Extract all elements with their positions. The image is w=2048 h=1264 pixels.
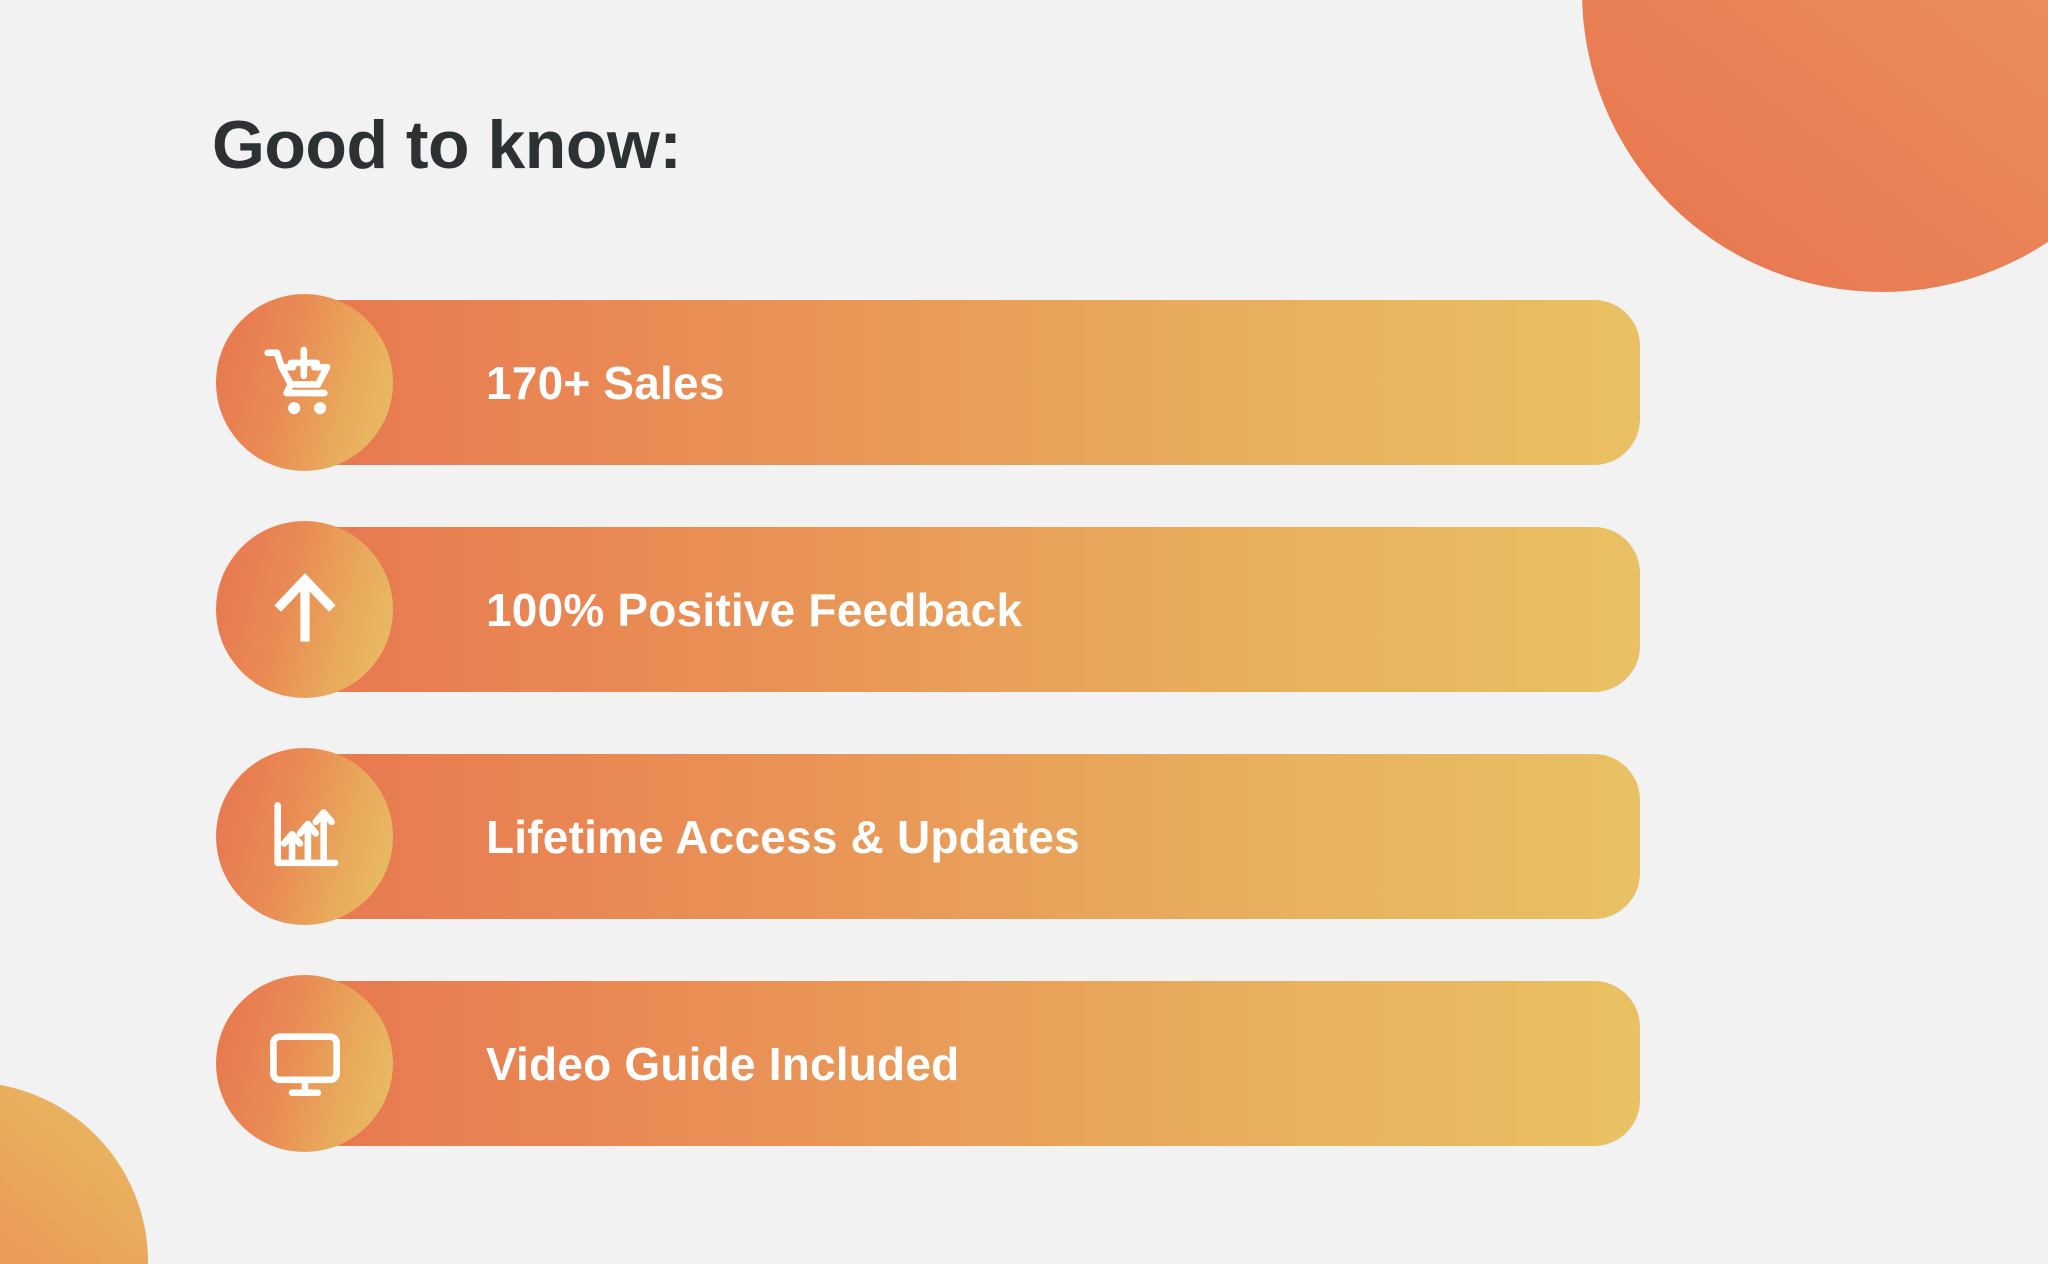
feature-label: Video Guide Included (486, 981, 959, 1146)
list-item: 170+ Sales (216, 300, 1640, 465)
feature-icon-badge (216, 294, 393, 471)
feature-label: Lifetime Access & Updates (486, 754, 1080, 919)
arrow-up-icon (259, 564, 351, 656)
monitor-icon (259, 1018, 351, 1110)
feature-list: 170+ Sales 100% Positive Feedback (216, 300, 1640, 1146)
top-right-circle-decoration (1582, 0, 2048, 292)
slide-canvas: Good to know: (0, 0, 2048, 1264)
feature-bar (237, 300, 1640, 465)
feature-icon-badge (216, 521, 393, 698)
feature-label: 170+ Sales (486, 300, 725, 465)
list-item: Video Guide Included (216, 981, 1640, 1146)
feature-icon-badge (216, 748, 393, 925)
list-item: 100% Positive Feedback (216, 527, 1640, 692)
bottom-left-circle-decoration (0, 1082, 148, 1264)
page-title: Good to know: (212, 108, 681, 183)
feature-icon-badge (216, 975, 393, 1152)
feature-label: 100% Positive Feedback (486, 527, 1022, 692)
list-item: Lifetime Access & Updates (216, 754, 1640, 919)
growth-chart-icon (259, 791, 351, 883)
cart-plus-icon (259, 337, 351, 429)
